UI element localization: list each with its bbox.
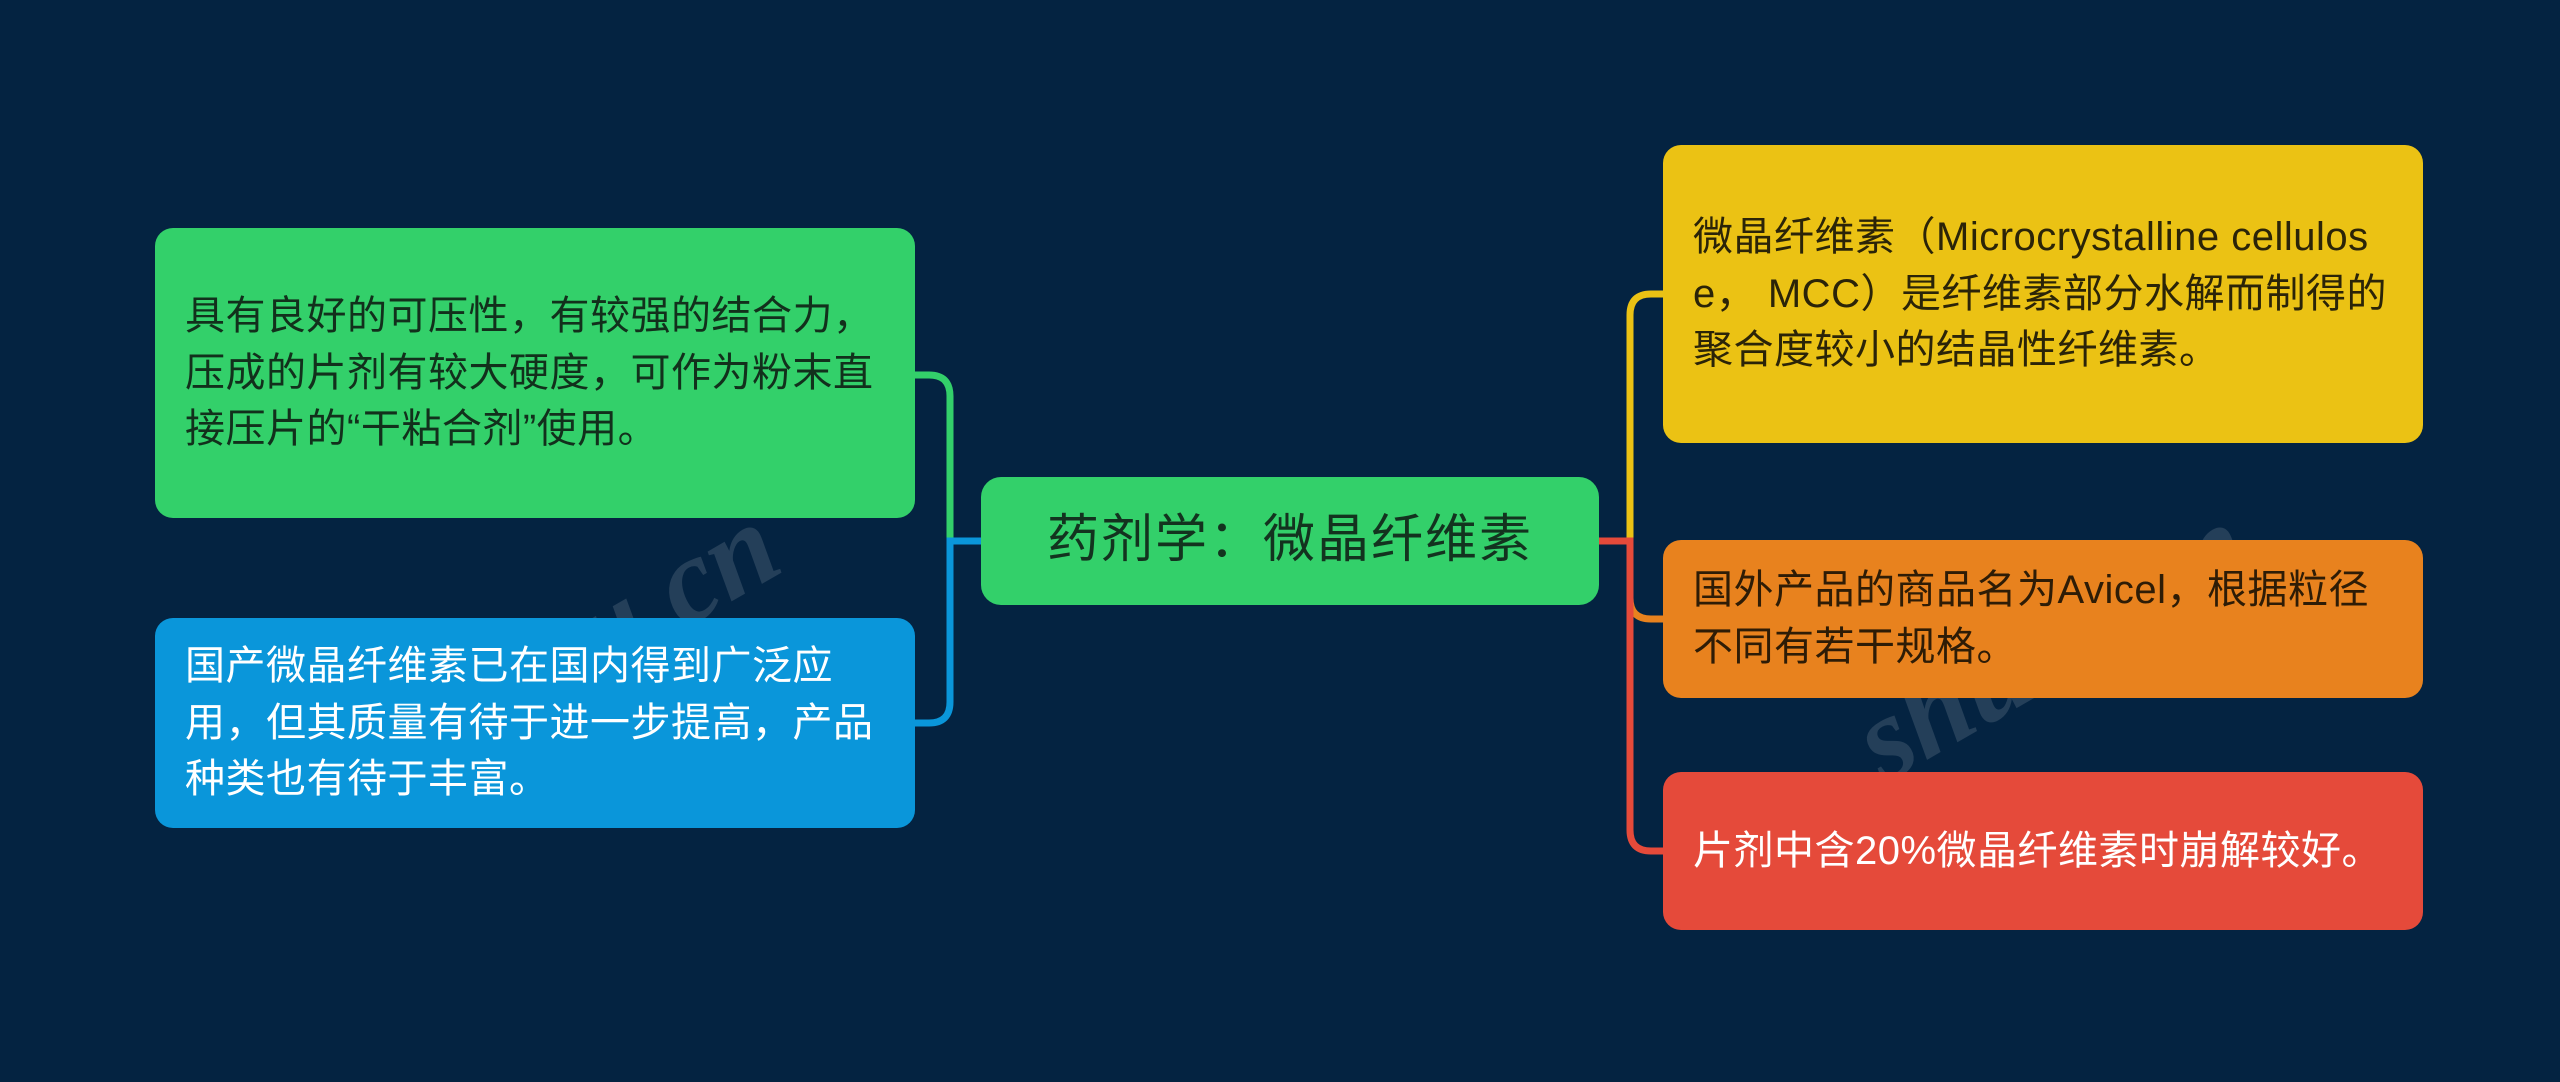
connector-definition bbox=[1599, 294, 1663, 541]
node-domestic[interactable]: 国产微晶纤维素已在国内得到广泛应用，但其质量有待于进一步提高，产品种类也有待于丰… bbox=[155, 618, 915, 828]
node-definition-label: 微晶纤维素（Microcrystalline cellulose， MCC）是纤… bbox=[1693, 209, 2393, 379]
node-disintegration[interactable]: 片剂中含20%微晶纤维素时崩解较好。 bbox=[1663, 772, 2423, 930]
node-brand-label: 国外产品的商品名为Avicel，根据粒径不同有若干规格。 bbox=[1693, 562, 2393, 676]
node-root-topic[interactable]: 药剂学：微晶纤维素 bbox=[981, 477, 1599, 605]
node-definition[interactable]: 微晶纤维素（Microcrystalline cellulose， MCC）是纤… bbox=[1663, 145, 2423, 443]
mindmap-canvas: shutu.cn shutu.cn 具有良好的可压性，有较强的结合力，压成的片剂… bbox=[0, 0, 2560, 1082]
node-root-label: 药剂学：微晶纤维素 bbox=[1011, 504, 1569, 578]
connector-domestic bbox=[915, 541, 981, 723]
node-compressibility-label: 具有良好的可压性，有较强的结合力，压成的片剂有较大硬度，可作为粉末直接压片的“干… bbox=[185, 288, 885, 458]
node-disintegration-label: 片剂中含20%微晶纤维素时崩解较好。 bbox=[1693, 823, 2393, 880]
connector-disintegration bbox=[1599, 541, 1663, 851]
node-compressibility[interactable]: 具有良好的可压性，有较强的结合力，压成的片剂有较大硬度，可作为粉末直接压片的“干… bbox=[155, 228, 915, 518]
connector-compressibility bbox=[915, 375, 981, 541]
node-brand[interactable]: 国外产品的商品名为Avicel，根据粒径不同有若干规格。 bbox=[1663, 540, 2423, 698]
node-domestic-label: 国产微晶纤维素已在国内得到广泛应用，但其质量有待于进一步提高，产品种类也有待于丰… bbox=[185, 638, 885, 808]
